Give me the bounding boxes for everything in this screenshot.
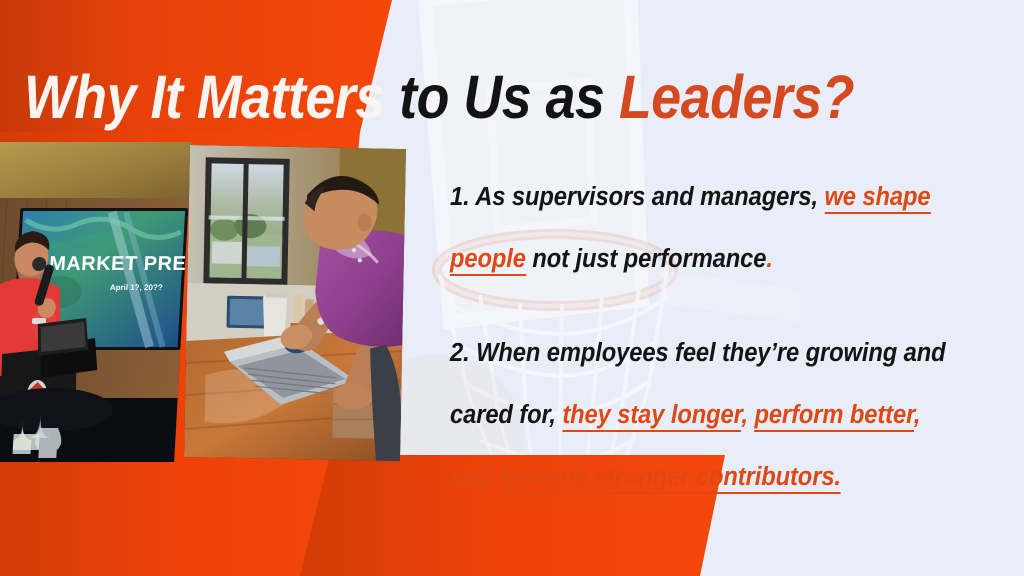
svg-text:April 1?, 20??: April 1?, 20?? [110,283,163,292]
title-segment-white: Why It Matters [24,63,385,131]
list-item-2: 2. When employees feel they’re growing a… [450,322,963,508]
list-item-1-number: 1. [450,183,470,211]
body-text-block: 1. As supervisors and managers, we shape… [450,166,963,508]
list-item-1-part-3: not just performance [526,245,767,273]
slide-canvas: Why It Matters to Us as Leaders? [0,0,1024,576]
list-item-2-part-5: , [914,401,921,429]
svg-text:MARKET PRES: MARKET PRES [49,253,192,275]
photo-laptop [184,145,406,461]
list-item-2-highlight-become-stronger-contributors: become stronger contributors. [498,463,841,494]
list-item-2-part-1: , [549,401,562,429]
list-item-2-part-and: and [450,463,498,491]
list-item-2-number: 2. [450,339,470,367]
list-item-1-part-0: As supervisors and managers [470,183,812,211]
photo-speaker: MARKET PRES April 1?, 20?? [0,142,192,462]
list-item-1-period: . [766,245,773,273]
list-item-2-highlight-they-stay-longer: they stay longer [562,401,741,432]
list-item-1-part-1: , [811,183,824,211]
list-item-2-highlight-perform-better: perform better [754,401,913,432]
list-item-1: 1. As supervisors and managers, we shape… [450,166,963,290]
list-item-2-part-3: , [741,401,754,429]
title-segment-dark: to Us as [385,63,619,131]
page-title: Why It Matters to Us as Leaders? [24,67,854,128]
title-segment-accent: Leaders? [619,63,854,131]
